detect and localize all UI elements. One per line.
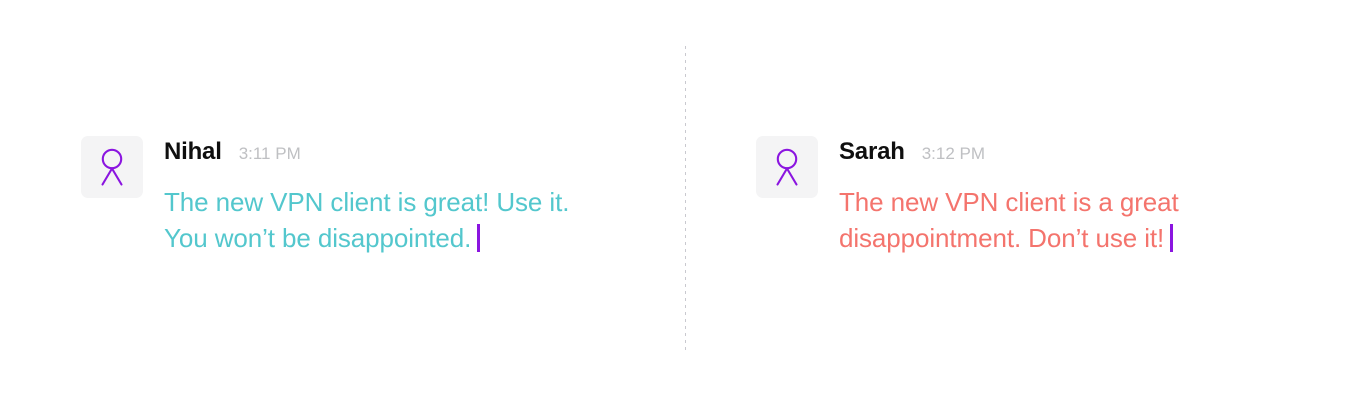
chat-comparison-canvas: Nihal 3:11 PM The new VPN client is grea… <box>0 0 1366 400</box>
message-panel-left: Nihal 3:11 PM The new VPN client is grea… <box>81 136 661 256</box>
message-header: Nihal 3:11 PM <box>164 139 661 165</box>
message-text-content: The new VPN client is a great disappoint… <box>839 187 1179 253</box>
message-header: Sarah 3:12 PM <box>839 139 1316 165</box>
message-timestamp: 3:12 PM <box>922 141 985 167</box>
avatar <box>81 136 143 198</box>
message-row: Sarah 3:12 PM The new VPN client is a gr… <box>756 136 1316 256</box>
vertical-dotted-divider <box>685 46 686 352</box>
person-stick-figure-icon <box>95 147 129 187</box>
author-name[interactable]: Nihal <box>164 139 222 165</box>
text-caret <box>477 224 480 252</box>
author-name[interactable]: Sarah <box>839 139 905 165</box>
message-panel-right: Sarah 3:12 PM The new VPN client is a gr… <box>756 136 1316 256</box>
message-text-content: The new VPN client is great! Use it. You… <box>164 187 569 253</box>
message-row: Nihal 3:11 PM The new VPN client is grea… <box>81 136 661 256</box>
text-caret <box>1170 224 1173 252</box>
message-body: Nihal 3:11 PM The new VPN client is grea… <box>164 136 661 256</box>
message-timestamp: 3:11 PM <box>239 141 301 167</box>
avatar <box>756 136 818 198</box>
message-text: The new VPN client is a great disappoint… <box>839 184 1316 256</box>
message-text: The new VPN client is great! Use it. You… <box>164 184 661 256</box>
person-stick-figure-icon <box>770 147 804 187</box>
message-body: Sarah 3:12 PM The new VPN client is a gr… <box>839 136 1316 256</box>
